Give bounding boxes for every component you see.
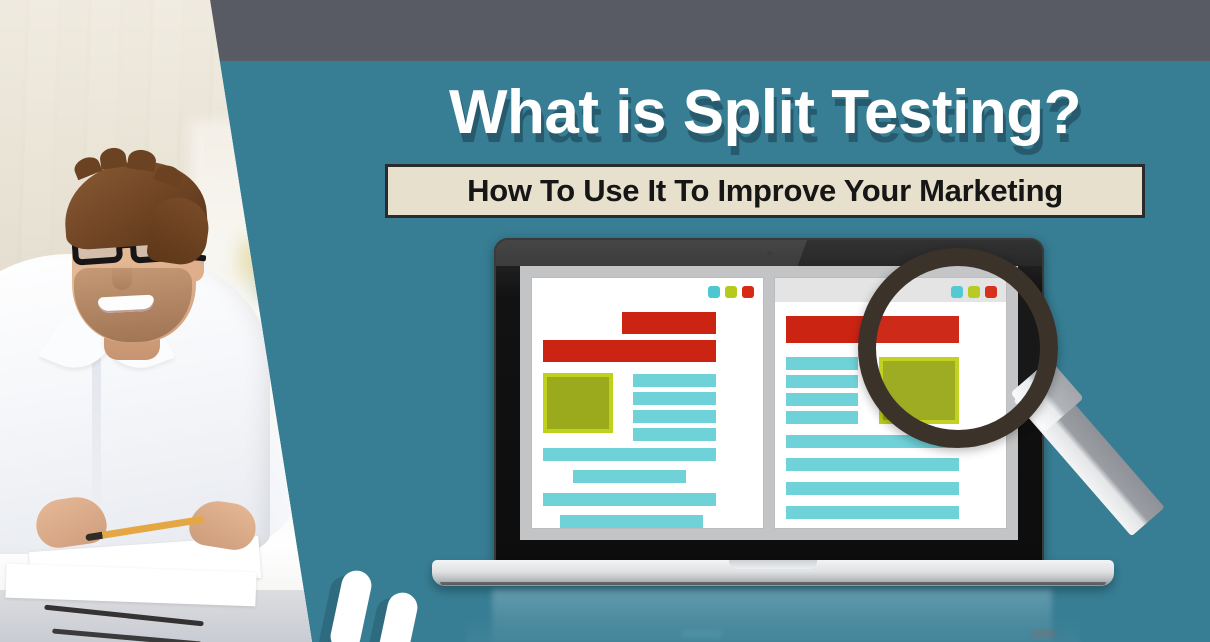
page-subtitle: How To Use It To Improve Your Marketing	[467, 173, 1063, 209]
quote-mark-decoration	[330, 570, 450, 642]
laptop-reflection-detail	[1032, 630, 1056, 638]
page-title: What is Split Testing?	[380, 78, 1150, 148]
quote-stroke	[328, 568, 374, 642]
text-line-block	[786, 393, 858, 406]
text-line-block	[543, 493, 716, 506]
traffic-dot-red-icon	[742, 286, 754, 298]
text-line-block	[786, 357, 858, 370]
hero-bar-block	[543, 340, 716, 362]
text-line-block	[543, 448, 716, 461]
traffic-dot-olive-icon	[725, 286, 737, 298]
text-line-block	[633, 428, 716, 441]
photo-background-blur-green	[252, 250, 322, 300]
text-line-block	[633, 410, 716, 423]
headline-block	[622, 312, 716, 334]
laptop-reflection-detail	[682, 630, 722, 638]
photo-smile	[98, 295, 155, 314]
quote-stroke	[374, 590, 420, 642]
browser-window-variant-a[interactable]	[532, 278, 763, 528]
window-traffic-lights	[708, 286, 754, 298]
photo-background-blur-yellow	[238, 240, 284, 280]
laptop-base-notch	[729, 560, 817, 569]
window-body-variant-a	[532, 278, 763, 528]
magnifier-lens-ring	[858, 248, 1058, 448]
traffic-dot-cyan-icon	[708, 286, 720, 298]
subtitle-box: How To Use It To Improve Your Marketing	[385, 164, 1145, 218]
text-line-block	[633, 374, 716, 387]
hero-photo	[0, 0, 330, 642]
text-line-block	[573, 470, 686, 483]
text-line-block	[633, 392, 716, 405]
text-line-block	[786, 375, 858, 388]
webcam-icon	[767, 251, 772, 256]
photo-nose	[112, 264, 132, 290]
banner-canvas: What is Split Testing? How To Use It To …	[0, 0, 1210, 642]
image-placeholder-block	[543, 373, 613, 433]
magnifying-glass-icon	[858, 248, 1210, 608]
text-line-block	[786, 411, 858, 424]
text-line-block	[560, 515, 703, 528]
